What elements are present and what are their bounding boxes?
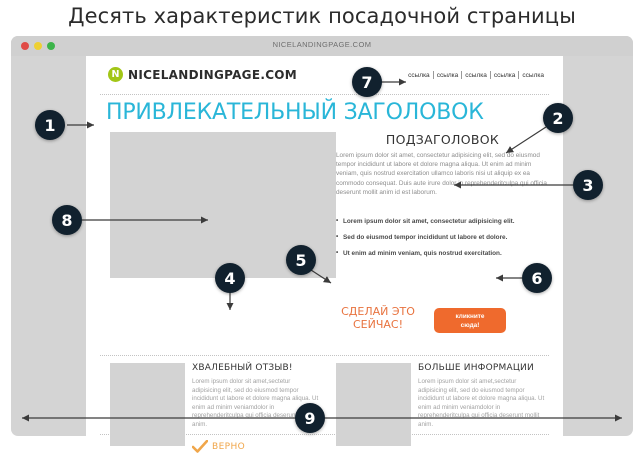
list-item: Ut enim ad minim veniam, quis nostrud ex… bbox=[336, 249, 549, 258]
cta-button[interactable]: кликните сюда! bbox=[434, 308, 506, 333]
divider-middle bbox=[100, 355, 549, 356]
nav-links[interactable]: ссылка ссылка ссылка ссылка ссылка bbox=[405, 71, 547, 79]
callout-9[interactable]: 9 bbox=[295, 403, 325, 433]
cta-button-line2: сюда! bbox=[461, 321, 480, 330]
benefit-list: Lorem ipsum dolor sit amet, consectetur … bbox=[336, 217, 549, 265]
list-item: Lorem ipsum dolor sit amet, consectetur … bbox=[336, 217, 549, 226]
subheading: ПОДЗАГОЛОВОК bbox=[336, 132, 549, 147]
page-title: Десять характеристик посадочной страницы bbox=[0, 4, 644, 28]
info-heading: БОЛЬШЕ ИНФОРМАЦИИ bbox=[418, 363, 534, 373]
cta-tagline-line2: СЕЙЧАС! bbox=[353, 318, 403, 331]
callout-1[interactable]: 1 bbox=[35, 110, 65, 140]
logo-text: NICELANDINGPAGE.COM bbox=[128, 68, 297, 82]
callout-6[interactable]: 6 bbox=[522, 263, 552, 293]
cta-button-line1: кликните bbox=[456, 312, 485, 321]
cta-tagline: СДЕЛАЙ ЭТО СЕЙЧАС! bbox=[338, 306, 418, 331]
cta-tagline-line1: СДЕЛАЙ ЭТО bbox=[341, 305, 415, 318]
browser-chrome: NICELANDINGPAGE.COM bbox=[11, 36, 633, 56]
browser-window: NICELANDINGPAGE.COM N NICELANDINGPAGE.CO… bbox=[11, 36, 633, 436]
checkmark-icon bbox=[192, 440, 208, 453]
nav-link-1[interactable]: ссылка bbox=[405, 72, 433, 79]
hero-headline: ПРИВЛЕКАТЕЛЬНЫЙ ЗАГОЛОВОК bbox=[106, 100, 484, 125]
info-image-placeholder bbox=[336, 363, 411, 446]
nav-link-3[interactable]: ссылка bbox=[462, 72, 490, 79]
verified-label: ВЕРНО bbox=[212, 442, 245, 452]
site-header: N NICELANDINGPAGE.COM ссылка ссылка ссыл… bbox=[86, 56, 563, 94]
site-logo[interactable]: N NICELANDINGPAGE.COM bbox=[108, 67, 297, 82]
logo-badge-icon: N bbox=[108, 67, 123, 82]
callout-8[interactable]: 8 bbox=[52, 205, 82, 235]
testimonial-heading: ХВАЛЕБНЫЙ ОТЗЫВ! bbox=[192, 363, 293, 373]
nav-link-5[interactable]: ссылка bbox=[519, 72, 547, 79]
address-bar-url[interactable]: NICELANDINGPAGE.COM bbox=[11, 40, 633, 49]
callout-5[interactable]: 5 bbox=[286, 245, 316, 275]
testimonial-image-placeholder bbox=[110, 363, 185, 446]
list-item: Sed do eiusmod tempor incididunt ut labo… bbox=[336, 233, 549, 242]
landing-page-canvas: N NICELANDINGPAGE.COM ссылка ссылка ссыл… bbox=[86, 56, 563, 436]
callout-4[interactable]: 4 bbox=[215, 263, 245, 293]
info-text: Lorem ipsum dolor sit amet,sectetur adip… bbox=[418, 378, 546, 430]
nav-link-2[interactable]: ссылка bbox=[434, 72, 462, 79]
callout-2[interactable]: 2 bbox=[543, 103, 573, 133]
nav-link-4[interactable]: ссылка bbox=[491, 72, 519, 79]
body-paragraph: Lorem ipsum dolor sit amet, consectetur … bbox=[336, 151, 549, 197]
verified-badge: ВЕРНО bbox=[192, 440, 245, 453]
callout-3[interactable]: 3 bbox=[573, 170, 603, 200]
divider-top bbox=[100, 94, 549, 95]
callout-7[interactable]: 7 bbox=[352, 67, 382, 97]
